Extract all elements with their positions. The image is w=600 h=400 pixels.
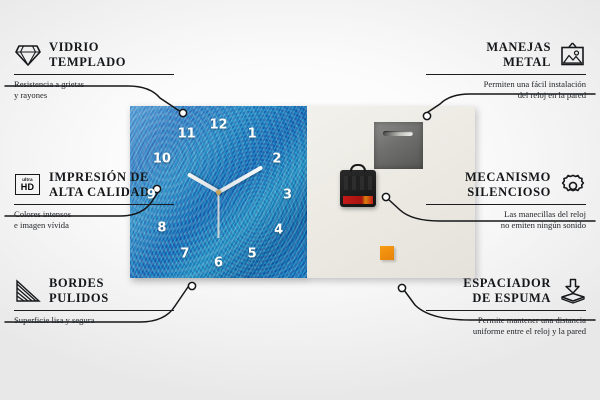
mechanism-housing-detail <box>344 176 372 190</box>
callout-divider <box>426 74 586 75</box>
infographic-canvas: 12 1 2 3 4 5 6 7 8 9 10 11 <box>0 0 600 400</box>
callout-header: VIDRIO TEMPLADO <box>14 40 174 70</box>
callout-title: ESPACIADOR DE ESPUMA <box>463 276 551 306</box>
callout-divider <box>426 204 586 205</box>
callout-title-line1: BORDES <box>49 276 104 290</box>
connector-dot-espaciador <box>398 284 405 291</box>
callout-header: MANEJAS METAL <box>426 40 586 70</box>
callout-title-line2: TEMPLADO <box>49 55 126 69</box>
clock-mechanism <box>340 170 376 207</box>
clock-center-cap <box>216 190 221 195</box>
callout-title-line1: MECANISMO <box>465 170 551 184</box>
callout-subtitle: Colores intensos e imagen vívida <box>14 209 174 232</box>
callout-title: MANEJAS METAL <box>486 40 551 70</box>
product-image: 12 1 2 3 4 5 6 7 8 9 10 11 <box>130 106 475 278</box>
clock-numeral-6: 6 <box>214 256 223 269</box>
callout-subtitle-line1: Las manecillas del reloj <box>504 209 586 219</box>
callout-title: IMPRESIÓN DE ALTA CALIDAD <box>49 170 150 200</box>
gear-icon <box>559 171 586 198</box>
callout-title: VIDRIO TEMPLADO <box>49 40 126 70</box>
clock-second-hand <box>218 192 220 238</box>
clock-numeral-9: 9 <box>147 189 156 202</box>
callout-subtitle-line1: Permiten una fácil instalación <box>484 79 586 89</box>
callout-header: ESPACIADOR DE ESPUMA <box>426 276 586 306</box>
clock-numeral-10: 10 <box>153 153 171 166</box>
hanging-frame-icon <box>559 41 586 68</box>
callout-subtitle-line1: Resistencia a grietas <box>14 79 84 89</box>
hanger-slot <box>383 131 413 136</box>
polished-edge-icon <box>14 277 41 304</box>
callout-subtitle-line1: Permite mantener una distancia <box>478 315 586 325</box>
callout-title-line2: PULIDOS <box>49 291 109 305</box>
battery-label <box>343 196 373 204</box>
callout-subtitle: Las manecillas del reloj no emiten ningú… <box>426 209 586 232</box>
callout-manejas-metal[interactable]: MANEJAS METAL Permiten una fácil instala… <box>426 40 586 101</box>
callout-subtitle: Superficie lisa y segura <box>14 315 174 326</box>
callout-title: MECANISMO SILENCIOSO <box>465 170 551 200</box>
callout-subtitle: Permiten una fácil instalación del reloj… <box>426 79 586 102</box>
callout-title-line1: VIDRIO <box>49 40 99 54</box>
clock-numeral-3: 3 <box>283 189 292 202</box>
callout-title-line1: IMPRESIÓN DE <box>49 170 149 184</box>
callout-divider <box>14 74 174 75</box>
clock-numeral-5: 5 <box>248 247 257 260</box>
callout-bordes-pulidos[interactable]: BORDES PULIDOS Superficie lisa y segura <box>14 276 174 326</box>
clock-numeral-8: 8 <box>157 222 166 235</box>
connector-dot-bordes <box>188 282 195 289</box>
callout-title-line2: ALTA CALIDAD <box>49 185 150 199</box>
callout-divider <box>14 204 174 205</box>
clock-numeral-7: 7 <box>180 247 189 260</box>
clock-numeral-2: 2 <box>272 153 281 166</box>
callout-title-line2: METAL <box>503 55 551 69</box>
foam-spacer-icon <box>559 277 586 304</box>
diamond-icon <box>14 41 41 68</box>
callout-subtitle-line2: e imagen vívida <box>14 220 69 230</box>
callout-title-line2: SILENCIOSO <box>467 185 551 199</box>
hanger-plate <box>374 122 423 169</box>
foam-spacer <box>380 246 394 260</box>
callout-divider <box>14 310 174 311</box>
callout-subtitle-line2: del reloj en la pared <box>518 90 586 100</box>
callout-vidrio-templado[interactable]: VIDRIO TEMPLADO Resistencia a grietas y … <box>14 40 174 101</box>
ultra-hd-icon: ultra HD <box>14 171 41 198</box>
clock-minute-hand <box>218 165 263 193</box>
clock-numeral-11: 11 <box>178 127 196 140</box>
callout-subtitle-line1: Superficie lisa y segura <box>14 315 94 325</box>
callout-subtitle-line1: Colores intensos <box>14 209 71 219</box>
clock-numeral-4: 4 <box>274 223 283 236</box>
callout-header: MECANISMO SILENCIOSO <box>426 170 586 200</box>
clock-numeral-1: 1 <box>248 127 257 140</box>
callout-espaciador-espuma[interactable]: ESPACIADOR DE ESPUMA Permite mantener un… <box>426 276 586 337</box>
callout-subtitle: Permite mantener una distancia uniforme … <box>426 315 586 338</box>
callout-mecanismo-silencioso[interactable]: MECANISMO SILENCIOSO Las manecillas del … <box>426 170 586 231</box>
callout-subtitle-line2: y rayones <box>14 90 47 100</box>
callout-header: BORDES PULIDOS <box>14 276 174 306</box>
callout-title-line1: ESPACIADOR <box>463 276 551 290</box>
callout-title: BORDES PULIDOS <box>49 276 109 306</box>
mechanism-hanging-loop <box>350 164 366 172</box>
callout-subtitle-line2: uniforme entre el reloj y la pared <box>473 326 586 336</box>
callout-title-line2: DE ESPUMA <box>472 291 551 305</box>
ultra-hd-icon-bottom-text: HD <box>21 183 35 192</box>
callout-title-line1: MANEJAS <box>486 40 551 54</box>
callout-subtitle-line2: no emiten ningún sonido <box>501 220 586 230</box>
callout-subtitle: Resistencia a grietas y rayones <box>14 79 174 102</box>
callout-divider <box>426 310 586 311</box>
clock-numeral-12: 12 <box>209 118 227 131</box>
clock-hour-hand <box>186 172 219 193</box>
